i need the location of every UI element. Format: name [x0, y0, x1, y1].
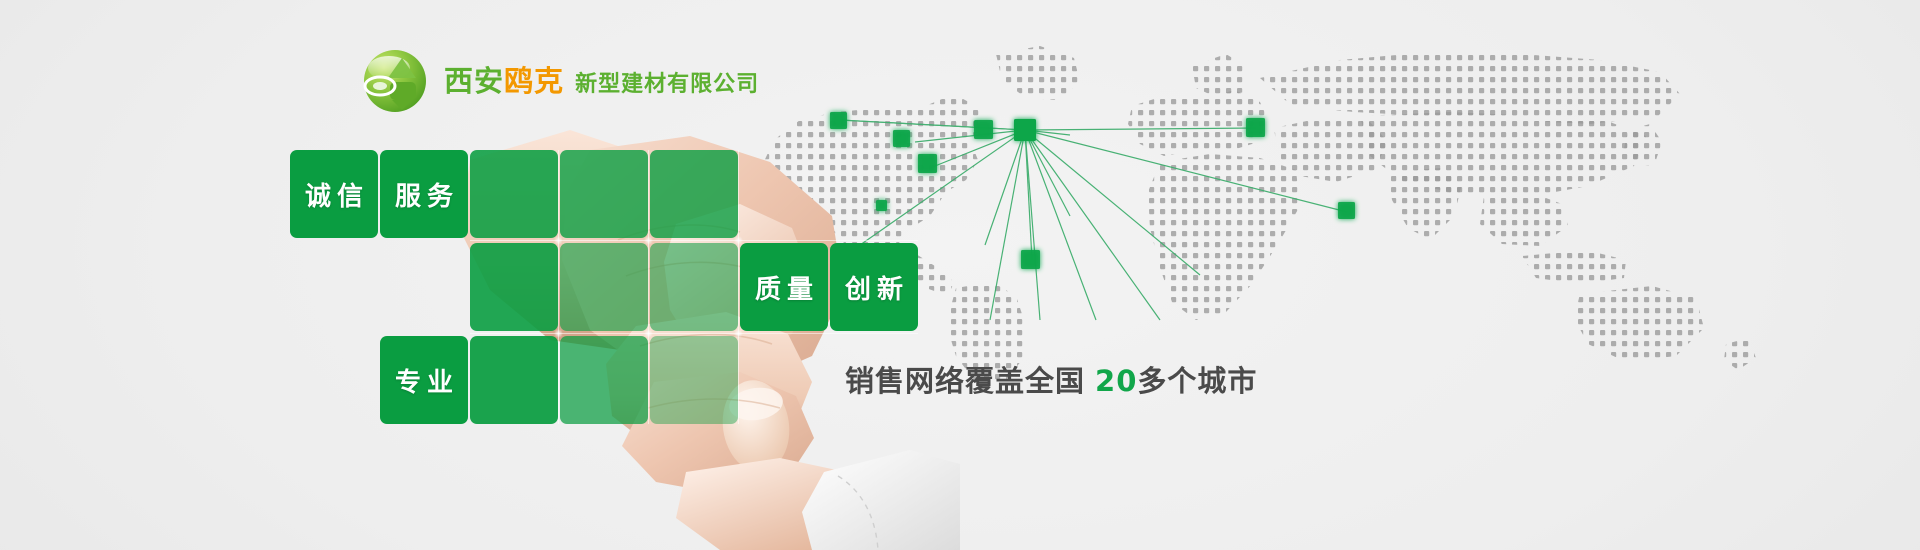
map-node: [1338, 202, 1355, 219]
tile-blank-r1c4[interactable]: [650, 243, 738, 331]
logo-text-block: 西安鸥克 新型建材有限公司: [444, 67, 759, 96]
tile-professional[interactable]: 专业: [380, 336, 468, 424]
tile-blank-r0c4[interactable]: [650, 150, 738, 238]
logo-city: 西安: [444, 64, 504, 98]
grid-line-v: [648, 150, 649, 424]
grid-node: [644, 236, 653, 245]
map-node: [1246, 118, 1265, 137]
tagline-prefix: 销售网络覆盖全国: [845, 364, 1085, 398]
logo-title: 西安鸥克: [444, 64, 575, 98]
tile-blank-r2c2[interactable]: [470, 336, 558, 424]
tile-label: 创新: [830, 243, 918, 331]
tile-quality[interactable]: 质量: [740, 243, 828, 331]
tile-label: 专业: [380, 336, 468, 424]
map-node: [974, 120, 993, 139]
grid-line-v: [738, 150, 739, 424]
grid-line-h: [470, 333, 918, 334]
logo-brand: 鸥克: [504, 64, 564, 98]
value-tile-grid: 诚信 服务 质量 创新 专业: [290, 150, 910, 415]
grid-node: [734, 236, 743, 245]
tile-blank-r1c3[interactable]: [560, 243, 648, 331]
company-logo[interactable]: 西安鸥克 新型建材有限公司: [362, 48, 759, 114]
grid-node: [554, 329, 563, 338]
tagline-number: 20: [1095, 364, 1137, 398]
hero-banner: 诚信 服务 质量 创新 专业: [0, 0, 1920, 550]
tagline-suffix: 多个城市: [1137, 364, 1257, 398]
tile-blank-r2c3[interactable]: [560, 336, 648, 424]
logo-subtitle: 新型建材有限公司: [575, 72, 759, 97]
grid-node: [644, 329, 653, 338]
tile-label: 诚信: [290, 150, 378, 238]
tile-blank-r0c2[interactable]: [470, 150, 558, 238]
grid-node: [554, 236, 563, 245]
map-node: [1021, 250, 1040, 269]
tile-blank-r1c2[interactable]: [470, 243, 558, 331]
tile-label: 质量: [740, 243, 828, 331]
leaf-globe-logo-icon: [362, 48, 428, 114]
tile-blank-r0c3[interactable]: [560, 150, 648, 238]
grid-line-v: [558, 150, 559, 424]
tile-blank-r2c4[interactable]: [650, 336, 738, 424]
grid-line-h: [470, 240, 918, 241]
sales-network-tagline: 销售网络覆盖全国20多个城市: [845, 358, 1257, 400]
tile-service[interactable]: 服务: [380, 150, 468, 238]
tile-label: 服务: [380, 150, 468, 238]
tile-integrity[interactable]: 诚信: [290, 150, 378, 238]
map-hub-node: [1014, 119, 1036, 141]
grid-node: [734, 329, 743, 338]
tile-innovation[interactable]: 创新: [830, 243, 918, 331]
